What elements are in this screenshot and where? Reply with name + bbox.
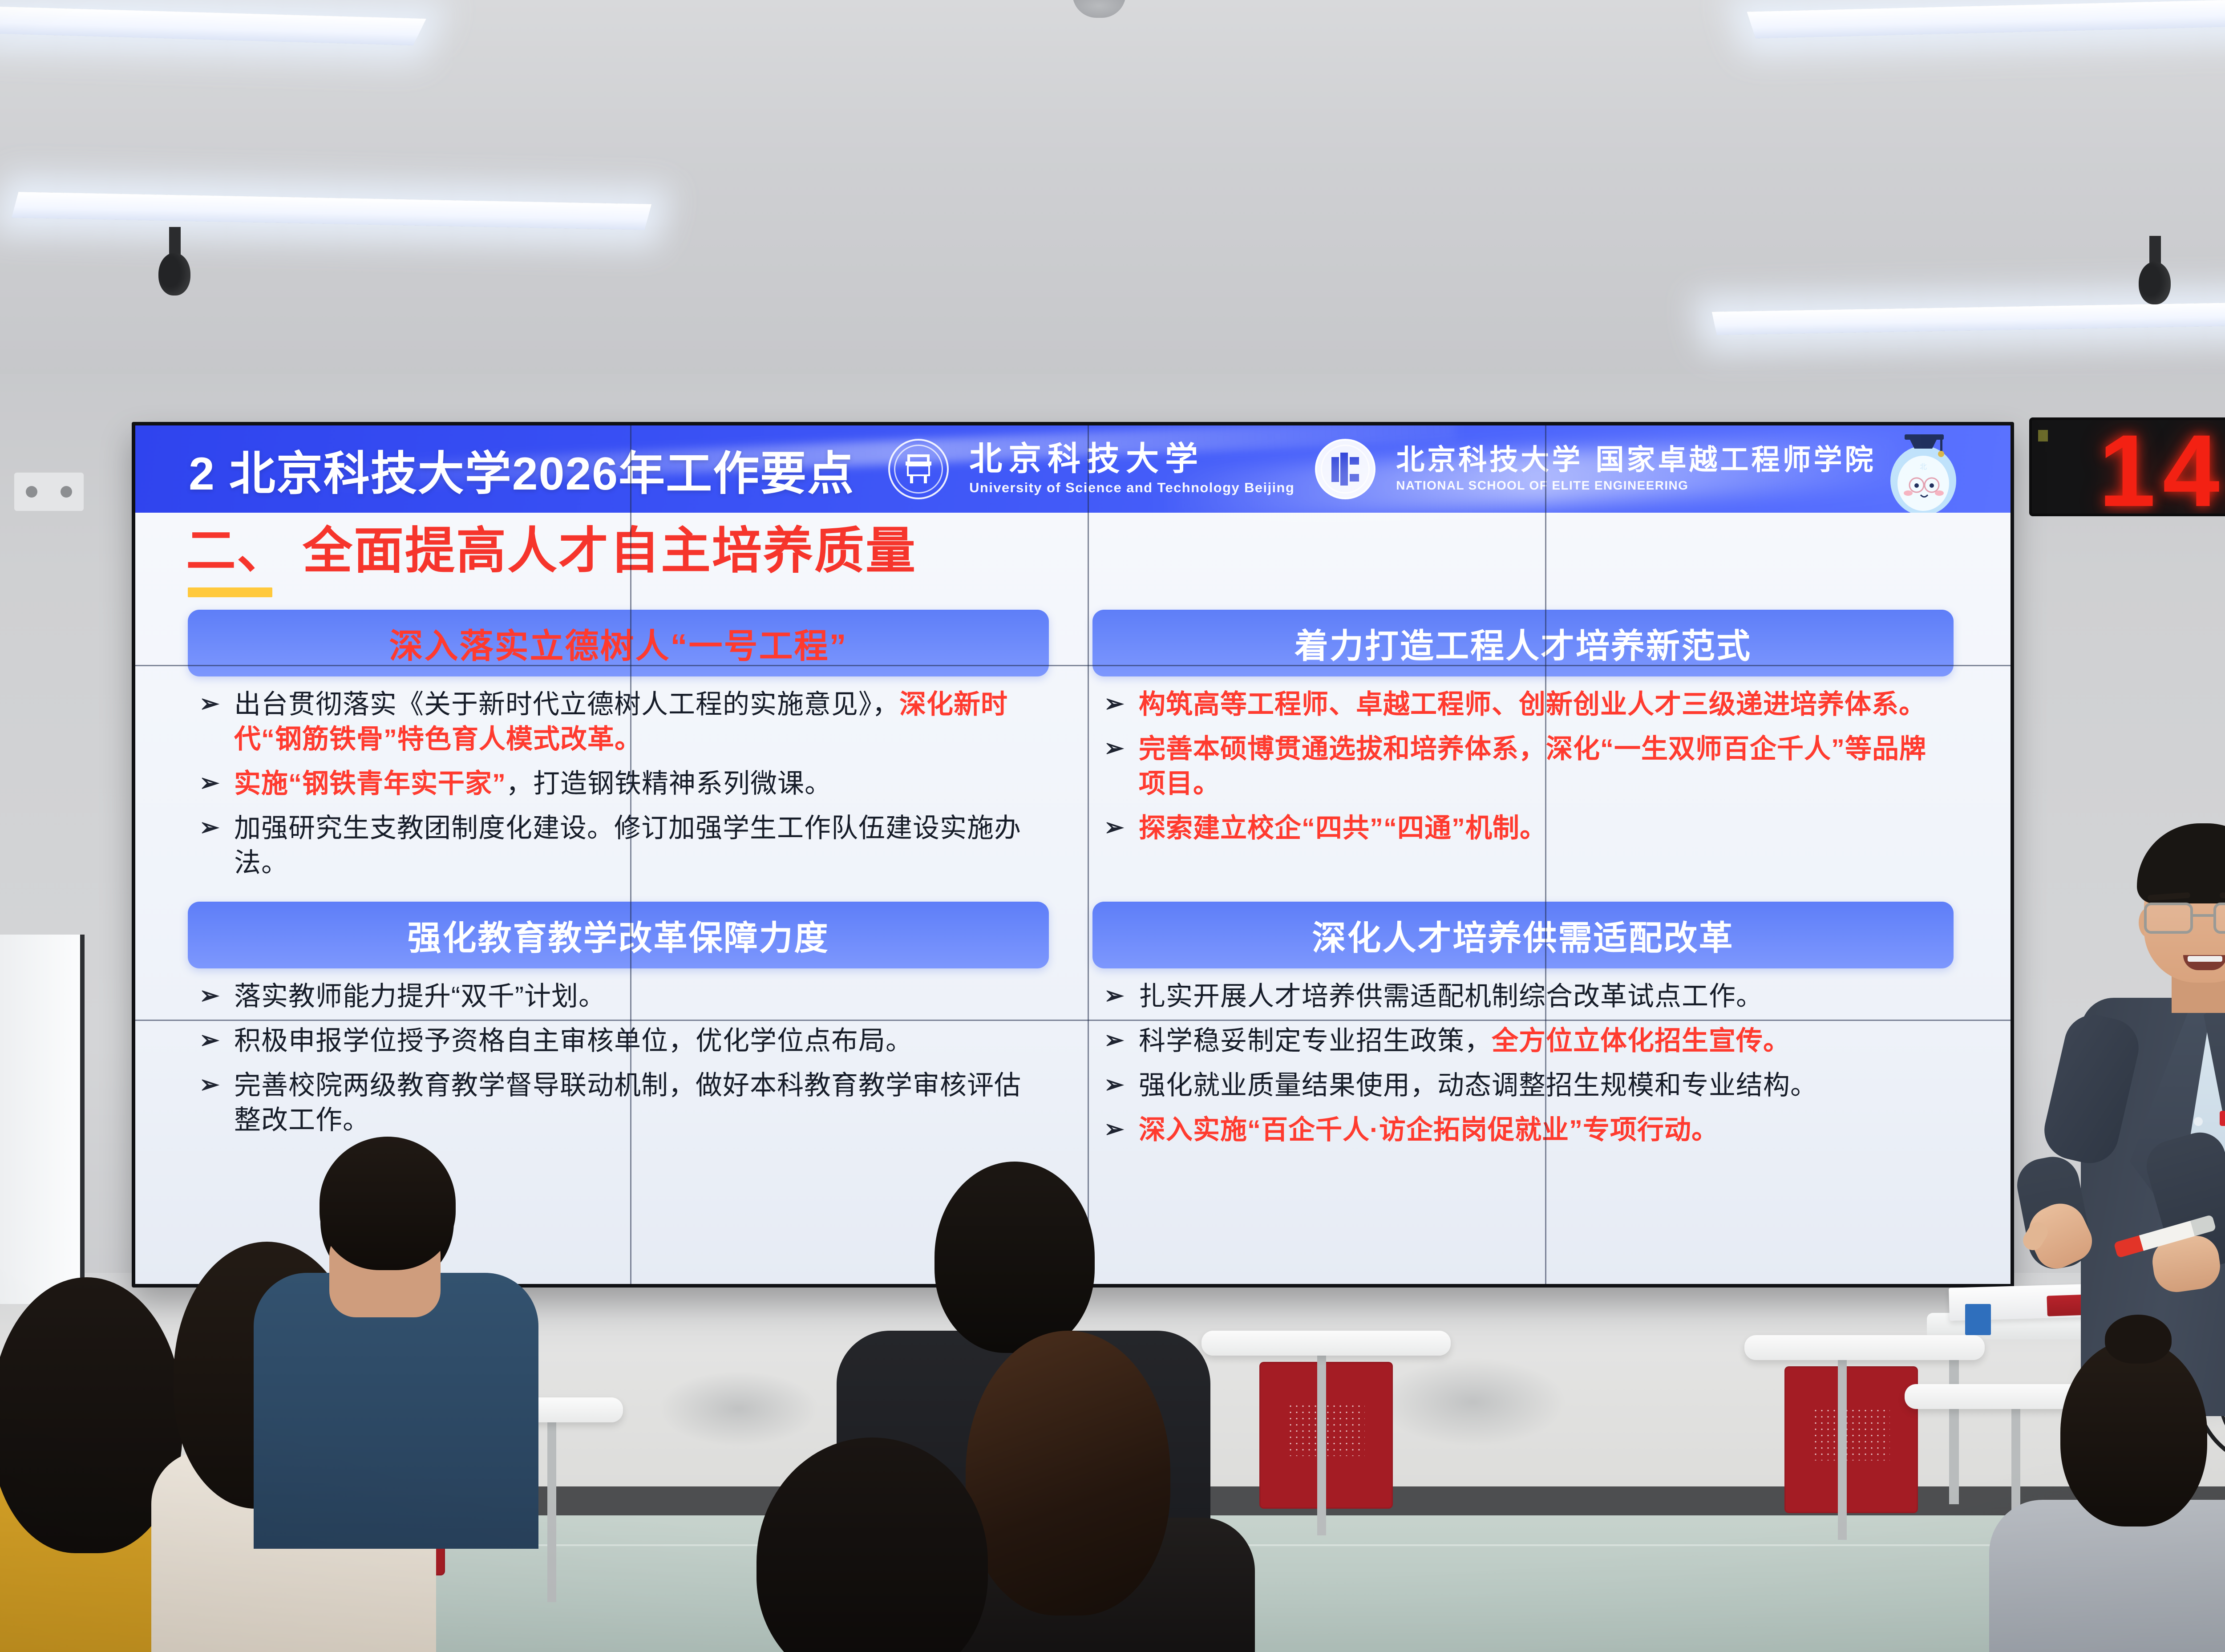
wall-smudge bbox=[1379, 1357, 1566, 1446]
audience-hair-bun bbox=[2105, 1315, 2172, 1364]
bullet-text: 积极申报学位授予资格自主审核单位，优化学位点布局。 bbox=[234, 1024, 913, 1058]
display-seam bbox=[630, 425, 631, 1284]
bullet-item: ➢ 实施“钢铁青年实干家”，打造钢铁精神系列微课。 bbox=[199, 766, 1046, 801]
clock-time: 14: bbox=[2099, 423, 2225, 516]
student-desk bbox=[1201, 1331, 1451, 1356]
table-leg bbox=[1838, 1353, 1847, 1540]
card-bullets: ➢ 扎实开展人才培养供需适配机制综合改革试点工作。 ➢ 科学稳妥制定专业招生政策… bbox=[1092, 968, 1954, 1157]
clock-label-tab bbox=[2038, 430, 2048, 441]
led-wall-clock: 14: bbox=[2029, 417, 2225, 516]
bullet-arrow-icon: ➢ bbox=[1104, 1113, 1132, 1141]
ustb-seal-icon bbox=[888, 439, 949, 499]
ustb-wordmark: 北京科技大学 University of Science and Technol… bbox=[969, 442, 1295, 495]
ceiling-spotlight bbox=[2149, 236, 2161, 271]
bullet-arrow-icon: ➢ bbox=[1104, 811, 1132, 839]
display-seam bbox=[1088, 425, 1089, 1284]
bullet-item: ➢ 完善校院两级教育教学督导联动机制，做好本科教育教学审核评估整改工作。 bbox=[199, 1068, 1046, 1138]
slide-card: 深入落实立德树人“一号工程” ➢ 出台贯彻落实《关于新时代立德树人工程的实施意见… bbox=[188, 610, 1049, 890]
audience-member bbox=[267, 1139, 516, 1540]
bullet-text: 出台贯彻落实《关于新时代立德树人工程的实施意见》，深化新时代“钢筋铁骨”特色育人… bbox=[234, 687, 1046, 757]
section-accent-underline bbox=[188, 587, 272, 597]
bullet-arrow-icon: ➢ bbox=[199, 766, 227, 795]
bullet-item: ➢ 科学稳妥制定专业招生政策，全方位立体化招生宣传。 bbox=[1104, 1024, 1951, 1058]
slide-title: 2 北京科技大学2026年工作要点 bbox=[189, 436, 854, 503]
bullet-text-red: 实施“钢铁青年实干家” bbox=[234, 769, 506, 798]
card-title: 深入落实立德树人“一号工程” bbox=[188, 610, 1049, 676]
bullet-arrow-icon: ➢ bbox=[199, 687, 227, 716]
card-bullets: ➢ 构筑高等工程师、卓越工程师、创新创业人才三级递进培养体系。 ➢ 完善本硕博贯… bbox=[1092, 676, 1954, 855]
shirt-button bbox=[2194, 1117, 2203, 1126]
student-desk bbox=[1744, 1335, 1985, 1360]
presenter-glasses-icon bbox=[2141, 903, 2225, 934]
side-whiteboard bbox=[0, 935, 85, 1304]
bullet-item: ➢ 扎实开展人才培养供需适配机制综合改革试点工作。 bbox=[1104, 979, 1951, 1014]
bei-monogram-icon bbox=[1330, 453, 1361, 486]
table-leg bbox=[1317, 1348, 1326, 1535]
elite-school-wordmark: 北京科技大学 国家卓越工程师学院 NATIONAL SCHOOL OF ELIT… bbox=[1396, 445, 1876, 492]
display-seam bbox=[135, 1020, 2011, 1021]
audience-hair bbox=[2060, 1340, 2207, 1526]
audience-hair bbox=[756, 1437, 988, 1652]
bullet-item: ➢ 构筑高等工程师、卓越工程师、创新创业人才三级递进培养体系。 bbox=[1104, 687, 1951, 722]
bullet-arrow-icon: ➢ bbox=[1104, 1068, 1132, 1097]
audience-member bbox=[2002, 1331, 2225, 1652]
svg-text:北: 北 bbox=[1920, 462, 1927, 471]
bullet-item: ➢ 落实教师能力提升“双千”计划。 bbox=[199, 979, 1046, 1014]
slide-header-bar: 2 北京科技大学2026年工作要点 bbox=[135, 425, 2011, 513]
table-leg bbox=[547, 1415, 556, 1602]
bullet-text-black: 科学稳妥制定专业招生政策， bbox=[1139, 1026, 1492, 1056]
bullet-arrow-icon: ➢ bbox=[199, 1068, 227, 1097]
card-title: 强化教育教学改革保障力度 bbox=[188, 902, 1049, 968]
student-chair bbox=[1259, 1362, 1393, 1509]
bullet-text-black: 加强研究生支教团制度化建设。修订加强学生工作队伍建设实施办法。 bbox=[234, 813, 1021, 878]
bullet-text: 探索建立校企“四共”“四通”机制。 bbox=[1139, 811, 1547, 846]
audience-hair bbox=[320, 1137, 456, 1270]
wall-outlet-plate bbox=[13, 472, 85, 512]
ustb-mascot-icon: 北 bbox=[1879, 428, 1968, 513]
bullet-item: ➢ 积极申报学位授予资格自主审核单位，优化学位点布局。 bbox=[199, 1024, 1046, 1058]
bullet-item: ➢ 强化就业质量结果使用，动态调整招生规模和专业结构。 bbox=[1104, 1068, 1951, 1103]
bullet-arrow-icon: ➢ bbox=[1104, 1024, 1132, 1052]
bullet-item: ➢ 完善本硕博贯通选拔和培养体系，深化“一生双师百企千人”等品牌项目。 bbox=[1104, 732, 1951, 801]
elite-school-name-cn: 北京科技大学 国家卓越工程师学院 bbox=[1396, 445, 1876, 474]
bullet-text: 实施“钢铁青年实干家”，打造钢铁精神系列微课。 bbox=[234, 766, 832, 801]
display-seam bbox=[1545, 425, 1546, 1284]
bullet-text-black: 出台贯彻落实《关于新时代立德树人工程的实施意见》， bbox=[234, 689, 899, 719]
bullet-text: 加强研究生支教团制度化建设。修订加强学生工作队伍建设实施办法。 bbox=[234, 811, 1046, 880]
bullet-arrow-icon: ➢ bbox=[199, 811, 227, 839]
binder-clip bbox=[1965, 1304, 1991, 1335]
bullet-text: 构筑高等工程师、卓越工程师、创新创业人才三级递进培养体系。 bbox=[1139, 687, 1926, 722]
elite-school-name-en: NATIONAL SCHOOL OF ELITE ENGINEERING bbox=[1396, 478, 1876, 493]
bullet-text: 强化就业质量结果使用，动态调整招生规模和专业结构。 bbox=[1139, 1068, 1817, 1103]
bullet-text: 落实教师能力提升“双千”计划。 bbox=[234, 979, 606, 1014]
section-number: 二、 bbox=[186, 526, 287, 576]
bullet-item: ➢ 加强研究生支教团制度化建设。修订加强学生工作队伍建设实施办法。 bbox=[199, 811, 1046, 880]
party-emblem-pin-icon bbox=[2220, 1111, 2225, 1126]
bullet-item: ➢ 深入实施“百企千人·访企拓岗促就业”专项行动。 bbox=[1104, 1113, 1951, 1147]
wall-smudge bbox=[659, 1371, 819, 1446]
bullet-arrow-icon: ➢ bbox=[199, 1024, 227, 1052]
slide-card: 深化人才培养供需适配改革 ➢ 扎实开展人才培养供需适配机制综合改革试点工作。 ➢… bbox=[1092, 902, 1954, 1157]
slide-card-grid: 深入落实立德树人“一号工程” ➢ 出台贯彻落实《关于新时代立德树人工程的实施意见… bbox=[168, 610, 1978, 1157]
bullet-item: ➢ 探索建立校企“四共”“四通”机制。 bbox=[1104, 811, 1951, 846]
bullet-text-red: 全方位立体化招生宣传。 bbox=[1492, 1026, 1790, 1056]
presenter-hair bbox=[2137, 823, 2225, 903]
display-seam bbox=[135, 665, 2011, 666]
card-bullets: ➢ 出台贯彻落实《关于新时代立德树人工程的实施意见》，深化新时代“钢筋铁骨”特色… bbox=[188, 676, 1049, 890]
bullet-text: 扎实开展人才培养供需适配机制综合改革试点工作。 bbox=[1139, 979, 1763, 1014]
elite-school-seal-icon bbox=[1315, 439, 1375, 499]
audience-hair bbox=[934, 1162, 1095, 1353]
bullet-arrow-icon: ➢ bbox=[1104, 687, 1132, 716]
bullet-arrow-icon: ➢ bbox=[1104, 979, 1132, 1008]
ceiling-spotlight bbox=[169, 227, 181, 263]
card-title: 着力打造工程人才培养新范式 bbox=[1092, 610, 1954, 676]
card-bullets: ➢ 落实教师能力提升“双千”计划。 ➢ 积极申报学位授予资格自主审核单位，优化学… bbox=[188, 968, 1049, 1147]
slide-header-logos: 北京科技大学 University of Science and Technol… bbox=[888, 439, 1876, 499]
student-chair bbox=[1784, 1366, 1918, 1513]
bullet-text: 科学稳妥制定专业招生政策，全方位立体化招生宣传。 bbox=[1139, 1024, 1790, 1058]
bullet-item: ➢ 出台贯彻落实《关于新时代立德树人工程的实施意见》，深化新时代“钢筋铁骨”特色… bbox=[199, 687, 1046, 757]
card-title: 深化人才培养供需适配改革 bbox=[1092, 902, 1954, 968]
slide-card: 强化教育教学改革保障力度 ➢ 落实教师能力提升“双千”计划。 ➢ 积极申报学位授… bbox=[188, 902, 1049, 1157]
section-heading: 二、 全面提高人才自主培养质量 bbox=[186, 526, 1978, 576]
table-leg bbox=[1949, 1335, 1959, 1504]
ustb-ding-vessel-icon bbox=[902, 453, 935, 486]
ustb-name-en: University of Science and Technology Bei… bbox=[969, 480, 1295, 496]
bullet-text: 深入实施“百企千人·访企拓岗促就业”专项行动。 bbox=[1139, 1113, 1719, 1147]
bullet-text-black: ，打造钢铁精神系列微课。 bbox=[506, 769, 832, 798]
section-title: 全面提高人才自主培养质量 bbox=[303, 526, 917, 576]
audience-member bbox=[730, 1437, 1032, 1652]
bullet-arrow-icon: ➢ bbox=[1104, 732, 1132, 760]
bullet-arrow-icon: ➢ bbox=[199, 979, 227, 1008]
lecture-hall-scene: 14: 2 北京科技大学2026年工作要点 bbox=[0, 0, 2225, 1652]
ustb-name-cn: 北京科技大学 bbox=[969, 442, 1295, 476]
slide-card: 着力打造工程人才培养新范式 ➢ 构筑高等工程师、卓越工程师、创新创业人才三级递进… bbox=[1092, 610, 1954, 890]
bullet-text: 完善校院两级教育教学督导联动机制，做好本科教育教学审核评估整改工作。 bbox=[234, 1068, 1046, 1138]
